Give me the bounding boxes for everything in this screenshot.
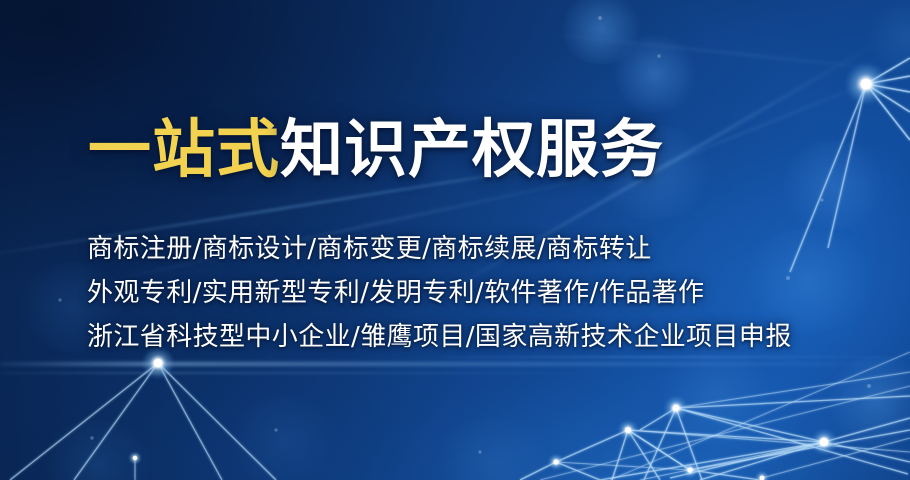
service-line-trademark: 商标注册/商标设计/商标变更/商标续展/商标转让 — [87, 228, 652, 265]
page-title: 一站式知识产权服务 — [88, 118, 664, 181]
headline-rest: 知识产权服务 — [280, 113, 664, 186]
headline-highlight: 一站式 — [88, 113, 280, 186]
service-line-patent: 外观专利/实用新型专利/发明专利/软件著作/作品著作 — [87, 272, 704, 309]
promo-banner: 一站式知识产权服务 商标注册/商标设计/商标变更/商标续展/商标转让 外观专利/… — [0, 0, 910, 480]
banner-content: 一站式知识产权服务 商标注册/商标设计/商标变更/商标续展/商标转让 外观专利/… — [0, 0, 910, 480]
service-line-enterprise: 浙江省科技型中小企业/雏鹰项目/国家高新技术企业项目申报 — [87, 316, 792, 353]
